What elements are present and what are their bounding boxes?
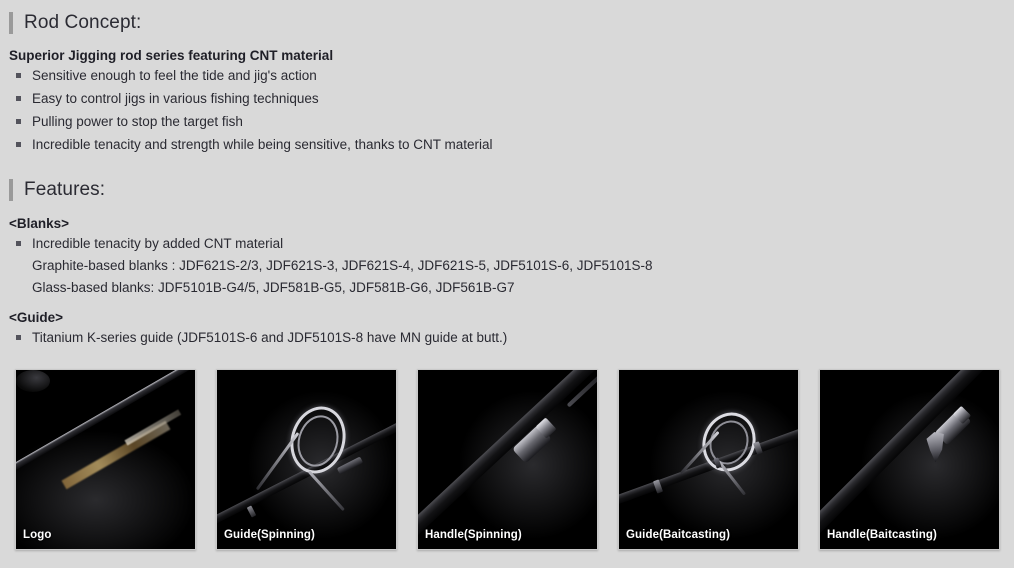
square-bullet-icon	[16, 73, 21, 78]
baitcasting-handle-photo	[820, 370, 999, 549]
square-bullet-icon	[16, 96, 21, 101]
gallery-thumbnail-handle-baitcasting[interactable]: Handle(Baitcasting)	[819, 369, 1000, 550]
thumbnail-caption: Logo	[23, 529, 52, 541]
list-item: Sensitive enough to feel the tide and ji…	[11, 64, 1014, 87]
thumbnail-caption: Guide(Baitcasting)	[626, 529, 730, 541]
thumbnail-caption: Handle(Spinning)	[425, 529, 522, 541]
list-item-label: Incredible tenacity by added CNT materia…	[32, 236, 283, 251]
square-bullet-icon	[16, 142, 21, 147]
features-section: Features: <Blanks> Incredible tenacity b…	[0, 179, 1014, 349]
square-bullet-icon	[16, 335, 21, 340]
list-item-label: Incredible tenacity and strength while b…	[32, 137, 493, 152]
rod-concept-bullet-list: Sensitive enough to feel the tide and ji…	[0, 64, 1014, 156]
rod-concept-subheading: Superior Jigging rod series featuring CN…	[0, 47, 1014, 64]
list-item: Pulling power to stop the target fish	[11, 110, 1014, 133]
gallery-thumbnail-handle-spinning[interactable]: Handle(Spinning)	[417, 369, 598, 550]
gallery-thumbnail-logo[interactable]: Logo	[15, 369, 196, 550]
graphite-blanks-line: Graphite-based blanks : JDF621S-2/3, JDF…	[32, 255, 1014, 277]
heading-accent-bar-icon	[9, 179, 13, 201]
rod-concept-section: Rod Concept: Superior Jigging rod series…	[0, 0, 1014, 156]
guide-bullet-list: Titanium K-series guide (JDF5101S-6 and …	[0, 326, 1014, 349]
page-title: Rod Concept:	[24, 12, 141, 34]
product-description-page: Rod Concept: Superior Jigging rod series…	[0, 0, 1014, 568]
spinning-handle-photo	[418, 370, 597, 549]
square-bullet-icon	[16, 119, 21, 124]
heading-accent-bar-icon	[9, 12, 13, 34]
rod-concept-heading: Rod Concept:	[0, 12, 1014, 34]
gallery-thumbnail-guide-spinning[interactable]: Guide(Spinning)	[216, 369, 397, 550]
list-item: Incredible tenacity and strength while b…	[11, 133, 1014, 156]
blanks-bullet-list: Incredible tenacity by added CNT materia…	[0, 232, 1014, 299]
rod-logo-photo	[16, 370, 195, 549]
features-heading: Features:	[0, 179, 1014, 201]
list-item-label: Pulling power to stop the target fish	[32, 114, 243, 129]
list-item: Titanium K-series guide (JDF5101S-6 and …	[11, 326, 1014, 349]
features-title: Features:	[24, 179, 105, 201]
blanks-subheading: <Blanks>	[0, 215, 1014, 232]
square-bullet-icon	[16, 241, 21, 246]
product-image-gallery: Logo Guide(Spinning)	[15, 369, 1000, 550]
thumbnail-caption: Handle(Baitcasting)	[827, 529, 937, 541]
glass-blanks-line: Glass-based blanks: JDF5101B-G4/5, JDF58…	[32, 277, 1014, 299]
guide-subheading: <Guide>	[0, 309, 1014, 326]
gallery-thumbnail-guide-baitcasting[interactable]: Guide(Baitcasting)	[618, 369, 799, 550]
list-item: Incredible tenacity by added CNT materia…	[11, 232, 1014, 299]
baitcasting-guide-photo	[619, 370, 798, 549]
thumbnail-caption: Guide(Spinning)	[224, 529, 315, 541]
list-item: Easy to control jigs in various fishing …	[11, 87, 1014, 110]
list-item-label: Easy to control jigs in various fishing …	[32, 91, 319, 106]
spinning-guide-photo	[217, 370, 396, 549]
list-item-label: Titanium K-series guide (JDF5101S-6 and …	[32, 330, 507, 345]
list-item-label: Sensitive enough to feel the tide and ji…	[32, 68, 317, 83]
